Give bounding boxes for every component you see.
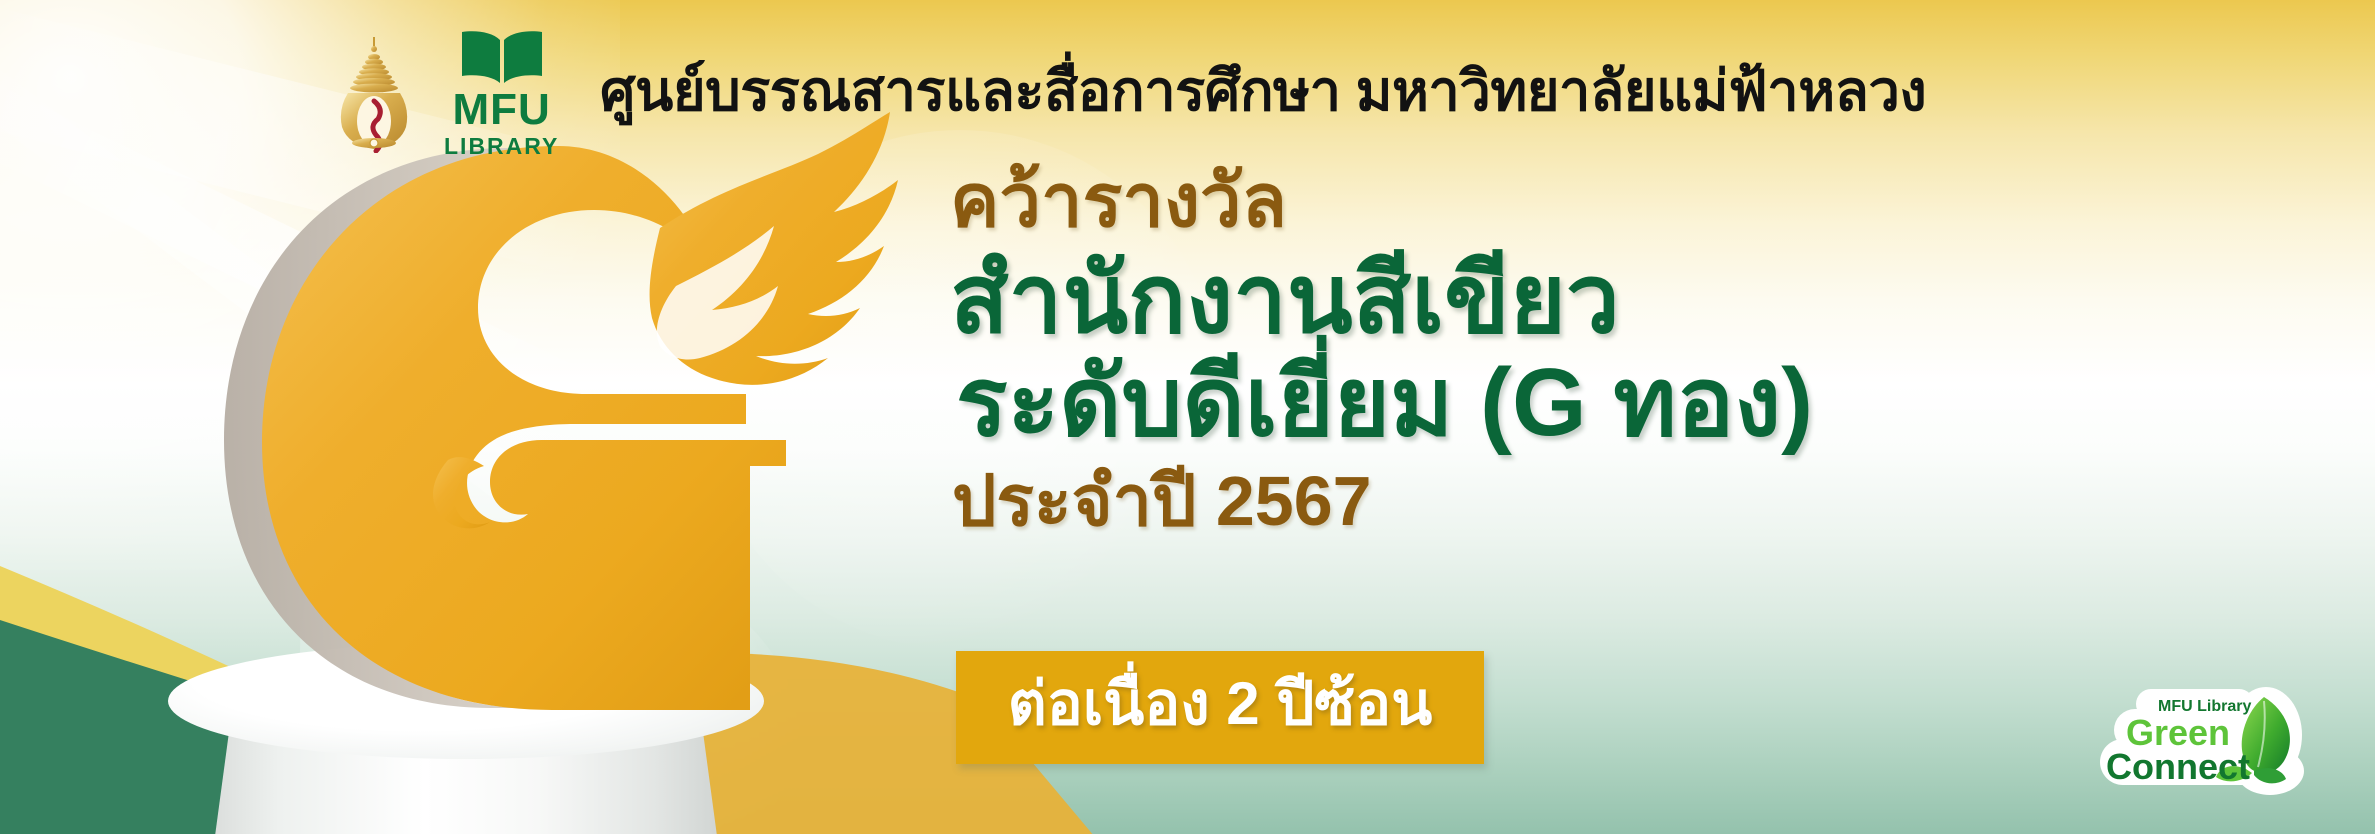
mfu-library-logo: MFU LIBRARY [444, 28, 559, 159]
status-badge: ต่อเนื่อง 2 ปีซ้อน [956, 651, 1484, 764]
headline-green-line-2: ระดับดีเยี่ยม (G ทอง) [956, 348, 1813, 457]
headline-year-line: ประจำปี 2567 [952, 460, 1813, 543]
status-badge-label: ต่อเนื่อง 2 ปีซ้อน [980, 656, 1460, 759]
gold-letter-g-trophy-icon [190, 110, 930, 710]
mfu-royal-seal-icon [330, 35, 418, 153]
headline-green-line-1: สำนักงานสีเขียว [950, 245, 1813, 354]
logo-group: MFU LIBRARY [330, 28, 559, 159]
headline-block: คว้ารางวัล สำนักงานสีเขียว ระดับดีเยี่ยม… [950, 160, 1813, 542]
organization-title: ศูนย์บรรณสารและสื่อการศึกษา มหาวิทยาลัยแ… [600, 46, 1926, 135]
connect-word: Connect [2106, 746, 2250, 787]
green-connect-logo: MFU Library Green Connect [2098, 683, 2318, 803]
headline-award-line: คว้ารางวัล [950, 160, 1813, 243]
library-wordmark: LIBRARY [444, 134, 559, 159]
award-banner: MFU LIBRARY ศูนย์บรรณสารและสื่อการศึกษา … [0, 0, 2375, 834]
mfu-wordmark: MFU [453, 88, 551, 132]
open-book-icon [456, 28, 548, 86]
